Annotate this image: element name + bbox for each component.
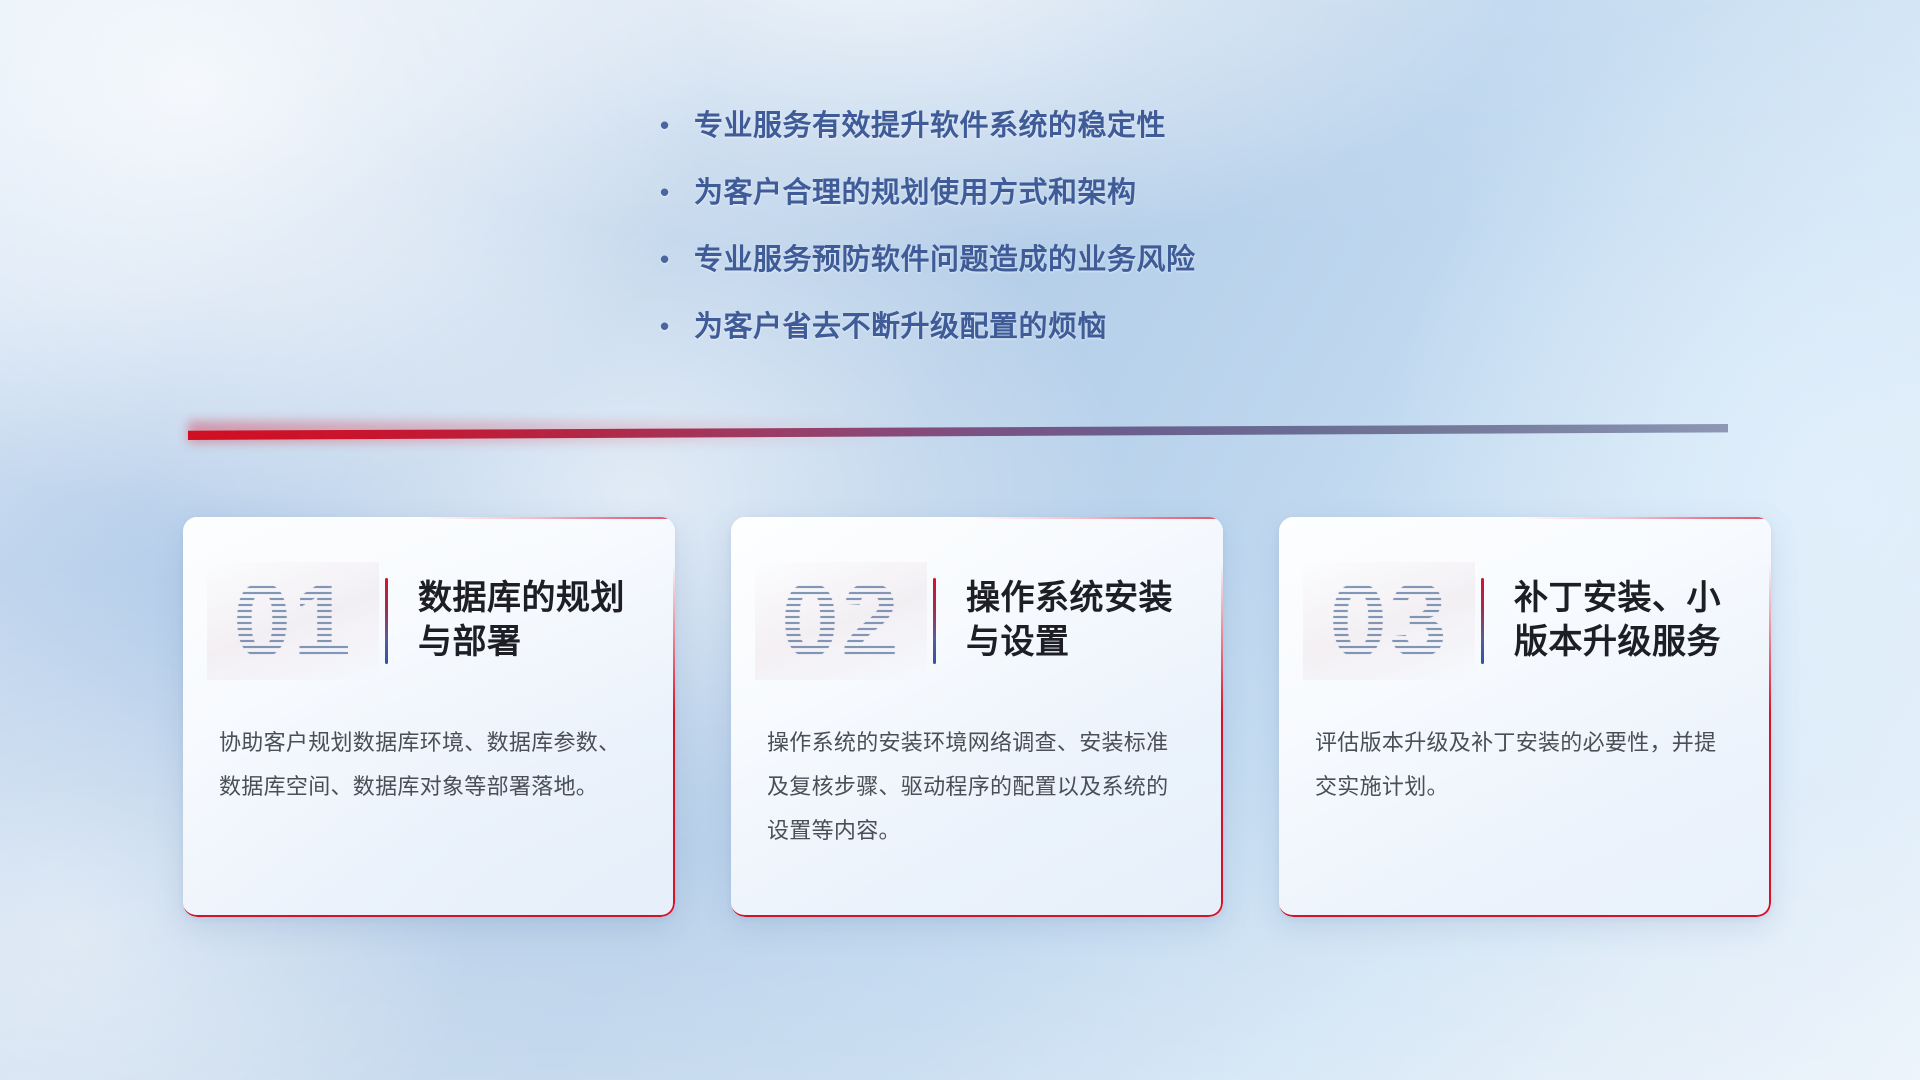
service-card-title: 数据库的规划与部署 [418,577,641,664]
bullet-item-label: 为客户合理的规划使用方式和架构 [694,175,1480,212]
service-card-accent-bar [933,578,936,664]
service-card-number-text: 03 [1303,562,1475,680]
service-card[interactable]: 03 补丁安装、小版本升级服务 评估版本升级及补丁安装的必要性，并提交实施计划。 [1279,517,1771,917]
service-card[interactable]: 02 操作系统安装与设置 操作系统的安装环境网络调查、安装标准及复核步骤、驱动程… [731,517,1223,917]
benefits-bullet-list: • 专业服务有效提升软件系统的稳定性 • 为客户合理的规划使用方式和架构 • 专… [660,108,1480,376]
bullet-item: • 专业服务有效提升软件系统的稳定性 [660,108,1480,145]
service-card-title: 补丁安装、小版本升级服务 [1514,577,1737,664]
bullet-marker-icon: • [660,175,694,211]
service-card-number: 03 [1303,562,1475,680]
service-card-body: 协助客户规划数据库环境、数据库参数、数据库空间、数据库对象等部署落地。 [183,687,675,809]
bullet-marker-icon: • [660,309,694,345]
service-card-header: 03 补丁安装、小版本升级服务 [1279,517,1771,687]
service-card-number: 01 [207,562,379,680]
bullet-item-label: 专业服务预防软件问题造成的业务风险 [694,242,1480,279]
bullet-item: • 为客户省去不断升级配置的烦恼 [660,309,1480,346]
bullet-item: • 为客户合理的规划使用方式和架构 [660,175,1480,212]
service-card-title: 操作系统安装与设置 [966,577,1189,664]
service-card-accent-bar [1481,578,1484,664]
service-card-number-text: 01 [207,562,379,680]
service-card-body: 评估版本升级及补丁安装的必要性，并提交实施计划。 [1279,687,1771,809]
service-card-header: 02 操作系统安装与设置 [731,517,1223,687]
service-card-number: 02 [755,562,927,680]
bullet-item-label: 专业服务有效提升软件系统的稳定性 [694,108,1480,145]
service-card-header: 01 数据库的规划与部署 [183,517,675,687]
bullet-marker-icon: • [660,108,694,144]
bullet-item-label: 为客户省去不断升级配置的烦恼 [694,309,1480,346]
service-card-accent-bar [385,578,388,664]
bullet-item: • 专业服务预防软件问题造成的业务风险 [660,242,1480,279]
service-card[interactable]: 01 数据库的规划与部署 协助客户规划数据库环境、数据库参数、数据库空间、数据库… [183,517,675,917]
section-divider [188,424,1728,440]
service-card-list: 01 数据库的规划与部署 协助客户规划数据库环境、数据库参数、数据库空间、数据库… [183,517,1771,917]
service-card-number-text: 02 [755,562,927,680]
bullet-marker-icon: • [660,242,694,278]
service-card-body: 操作系统的安装环境网络调查、安装标准及复核步骤、驱动程序的配置以及系统的设置等内… [731,687,1223,853]
